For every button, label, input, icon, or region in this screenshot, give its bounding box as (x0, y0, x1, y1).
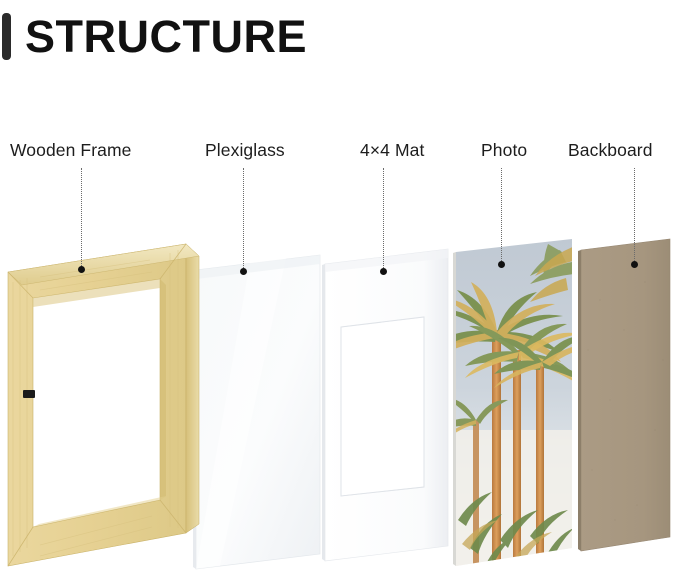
label-mat: 4×4 Mat (360, 140, 424, 161)
leader-dot-wooden-frame (78, 266, 85, 273)
layer-plexiglass (193, 255, 320, 569)
label-plexiglass: Plexiglass (205, 140, 285, 161)
label-wooden-frame: Wooden Frame (10, 140, 132, 161)
exploded-view-scene (0, 0, 679, 574)
label-backboard: Backboard (568, 140, 653, 161)
layer-wooden-frame (8, 244, 199, 566)
layer-photo (431, 239, 594, 570)
leader-dot-mat (380, 268, 387, 275)
layer-backboard (578, 239, 670, 551)
leader-dot-plexiglass (240, 268, 247, 275)
frame-hardware-tab (23, 390, 35, 398)
leader-dot-photo (498, 261, 505, 268)
structure-infographic: STRUCTURE (0, 0, 679, 574)
label-photo: Photo (481, 140, 527, 161)
leader-dot-backboard (631, 261, 638, 268)
layer-mat (322, 249, 448, 561)
